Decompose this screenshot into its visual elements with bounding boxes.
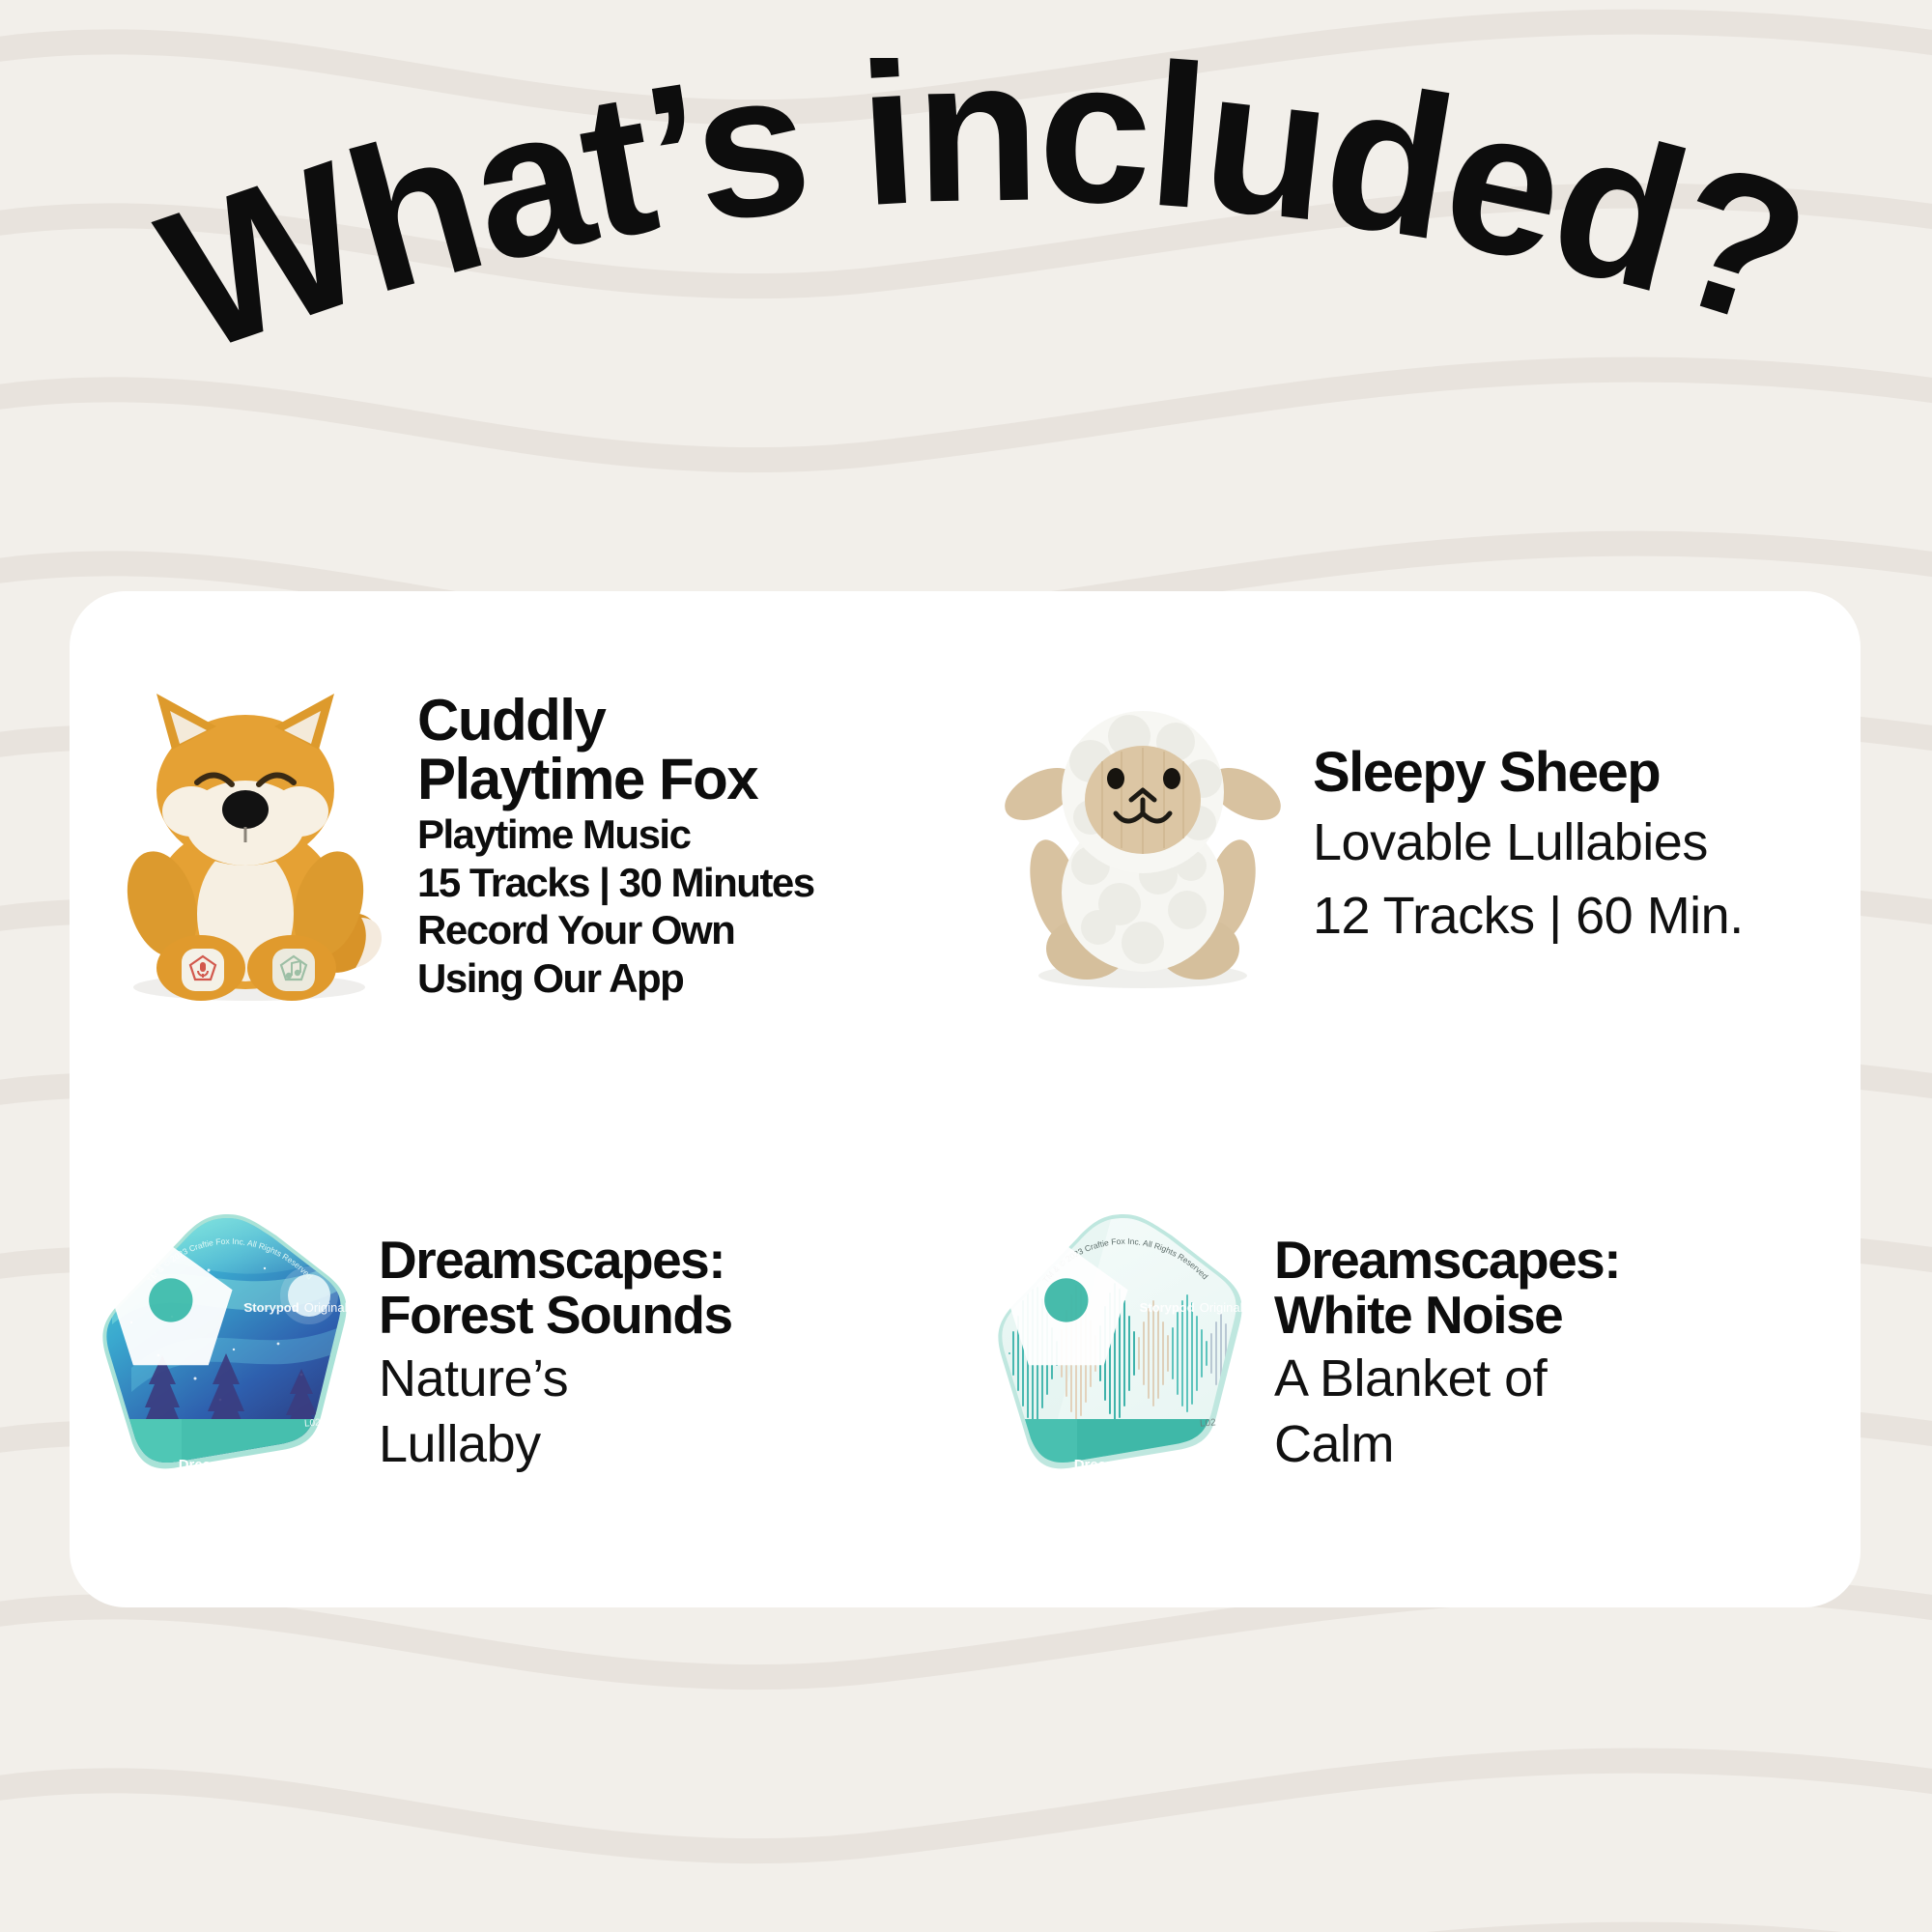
fox-detail-line-4: Using Our App: [417, 956, 948, 1000]
forest-detail-line-1: Nature’s: [379, 1350, 948, 1407]
item-dreamscapes-white-noise[interactable]: TM & © 2023 Craftie Fox Inc. All Rights …: [965, 1099, 1861, 1607]
craftie-forest-name-line-1: Dreamscapes:: [102, 1457, 354, 1474]
sheep-detail-line-1: Lovable Lullabies: [1313, 812, 1843, 874]
sheep-copy: Sleepy Sheep Lovable Lullabies 12 Tracks…: [1288, 744, 1843, 948]
craftie-whitenoise-name-line-1: Dreamscapes:: [998, 1457, 1249, 1474]
storypod-wordmark: Storypod: [244, 1300, 299, 1315]
storypod-logo-icon: [102, 1162, 240, 1452]
forest-title-line-1: Dreamscapes:: [379, 1233, 948, 1287]
craftie-card-white-noise[interactable]: TM & © 2023 Craftie Fox Inc. All Rights …: [998, 1208, 1249, 1498]
whitenoise-copy: Dreamscapes: White Noise A Blanket of Ca…: [1249, 1233, 1843, 1473]
storypod-originals-suffix: Originals: [1200, 1300, 1249, 1315]
fox-title-line-2: Playtime Fox: [417, 750, 948, 809]
storypod-logo-icon: [998, 1162, 1135, 1452]
included-items-panel: Cuddly Playtime Fox Playtime Music 15 Tr…: [70, 591, 1861, 1607]
whitenoise-title-line-2: White Noise: [1274, 1288, 1843, 1342]
sheep-plush-photo: [998, 686, 1288, 1005]
forest-copy: Dreamscapes: Forest Sounds Nature’s Lull…: [354, 1233, 948, 1473]
fox-detail-line-2: 15 Tracks | 30 Minutes: [417, 861, 948, 904]
fox-detail-line-1: Playtime Music: [417, 812, 948, 856]
craftie-whitenoise-brand: Storypod Originals: [998, 1162, 1249, 1452]
item-cuddly-playtime-fox[interactable]: Cuddly Playtime Fox Playtime Music 15 Tr…: [70, 591, 965, 1099]
storypod-wordmark: Storypod: [1140, 1300, 1195, 1315]
item-dreamscapes-forest-sounds[interactable]: TM & © 2023 Craftie Fox Inc. All Rights …: [70, 1099, 965, 1607]
forest-detail-line-2: Lullaby: [379, 1415, 948, 1473]
forest-title-line-2: Forest Sounds: [379, 1288, 948, 1342]
fox-plush-photo: [102, 686, 392, 1005]
item-sleepy-sheep[interactable]: Sleepy Sheep Lovable Lullabies 12 Tracks…: [965, 591, 1861, 1099]
craftie-forest-name: Dreamscapes: Forest Sounds: [102, 1457, 354, 1491]
fox-detail-line-3: Record Your Own: [417, 908, 948, 952]
whitenoise-detail-line-2: Calm: [1274, 1415, 1843, 1473]
craftie-forest-brand: Storypod Originals: [102, 1162, 354, 1452]
craftie-whitenoise-name-line-2: White Noise: [998, 1473, 1249, 1491]
sheep-title: Sleepy Sheep: [1313, 744, 1843, 801]
fox-title-line-1: Cuddly: [417, 691, 948, 750]
craftie-forest-name-line-2: Forest Sounds: [102, 1473, 354, 1491]
whitenoise-title-line-1: Dreamscapes:: [1274, 1233, 1843, 1287]
page-title-text: What’s included?: [136, 58, 1828, 395]
sheep-detail-line-2: 12 Tracks | 60 Min.: [1313, 886, 1843, 948]
page-title: What’s included?: [0, 58, 1932, 473]
whitenoise-detail-line-1: A Blanket of: [1274, 1350, 1843, 1407]
storypod-originals-suffix: Originals: [304, 1300, 354, 1315]
craftie-card-forest-sounds[interactable]: TM & © 2023 Craftie Fox Inc. All Rights …: [102, 1208, 354, 1498]
fox-copy: Cuddly Playtime Fox Playtime Music 15 Tr…: [392, 691, 948, 1000]
craftie-whitenoise-name: Dreamscapes: White Noise: [998, 1457, 1249, 1491]
